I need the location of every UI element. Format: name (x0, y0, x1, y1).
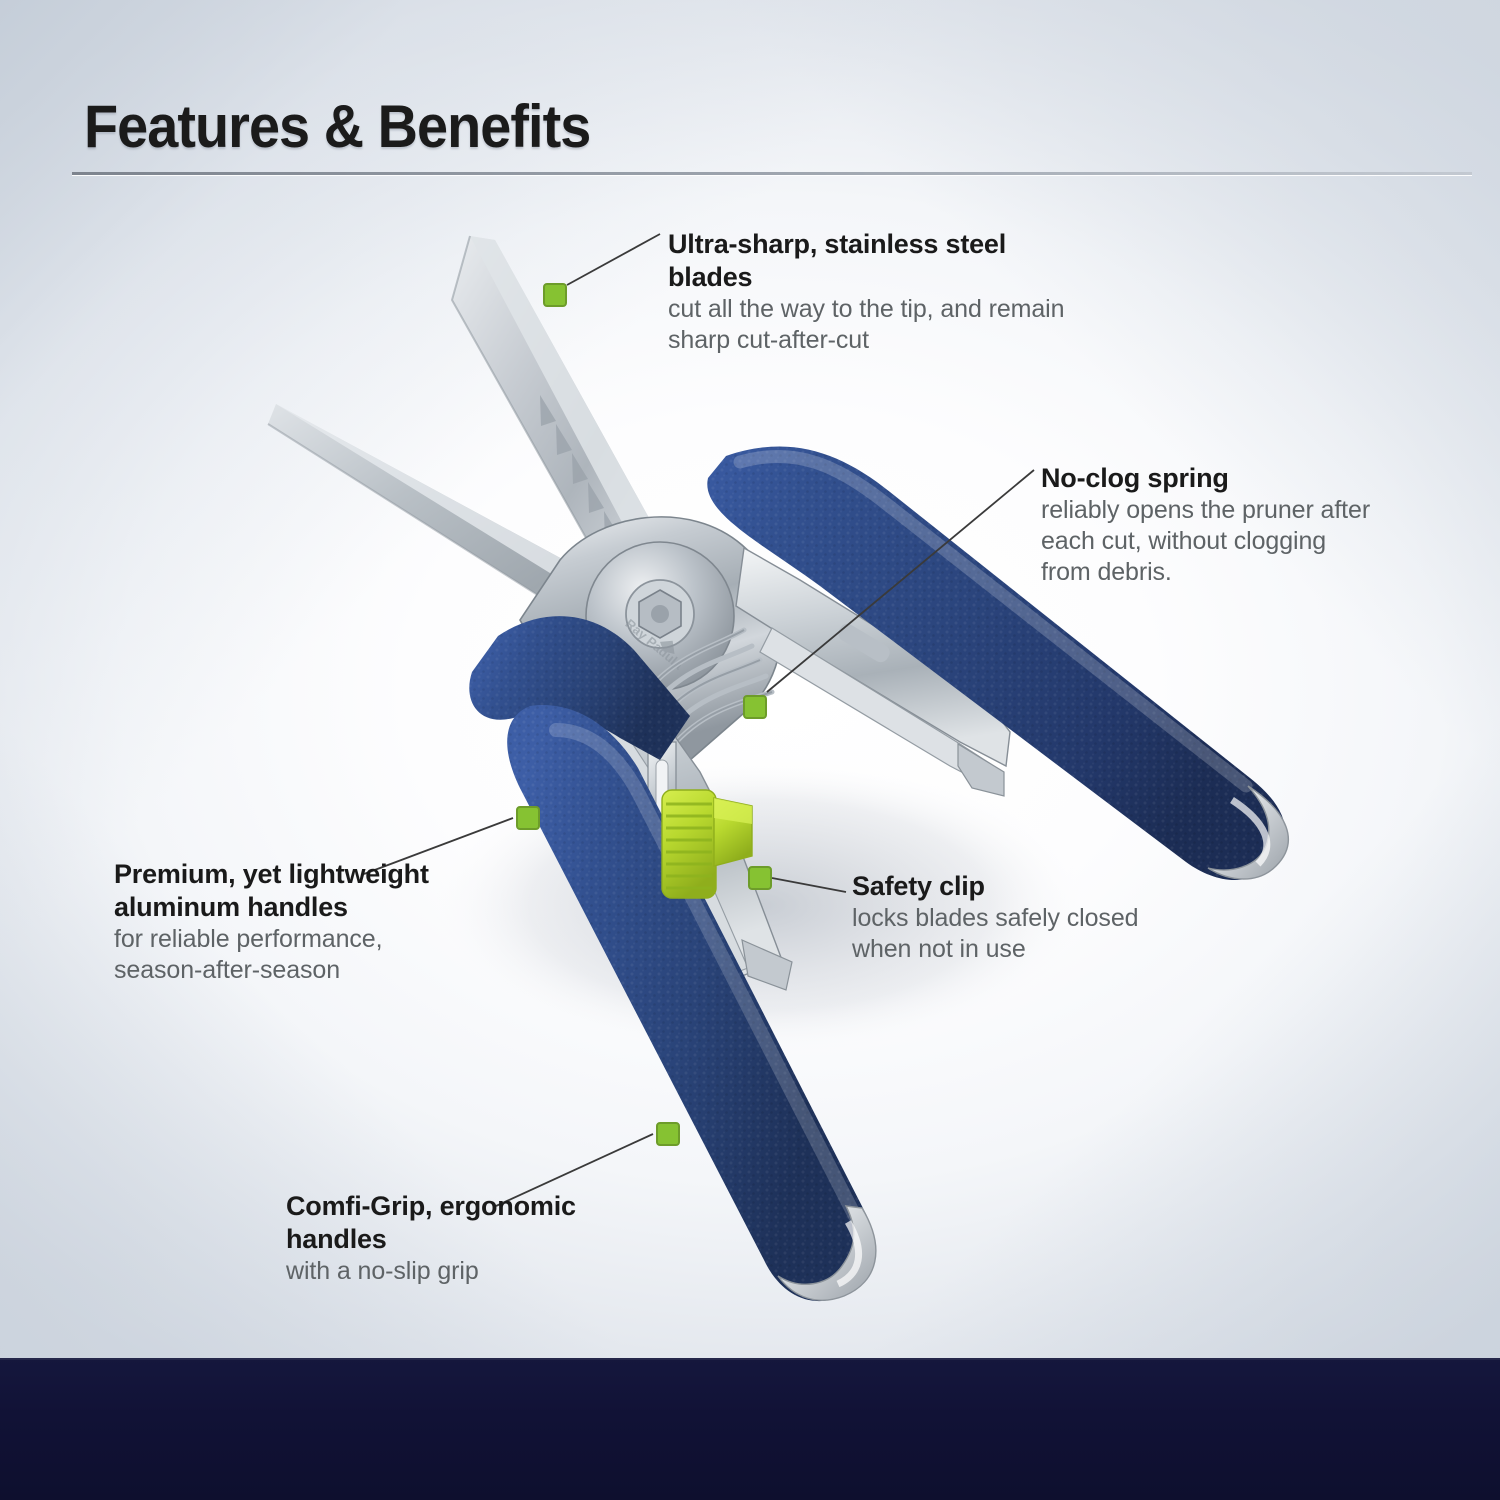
callout-grip-body: with a no-slip grip (286, 1256, 646, 1287)
callout-grip: Comfi-Grip, ergonomic handles with a no-… (286, 1190, 646, 1287)
callout-grip-heading: Comfi-Grip, ergonomic handles (286, 1190, 646, 1256)
callout-marker-spring[interactable] (743, 695, 767, 719)
infographic-page: Features & Benefits (0, 0, 1500, 1500)
callout-marker-safety[interactable] (748, 866, 772, 890)
callout-safety-heading: Safety clip (852, 870, 1182, 903)
callout-aluminum-body: for reliable performance, season-after-s… (114, 924, 474, 986)
callout-blades-body: cut all the way to the tip, and remain s… (668, 294, 1068, 356)
callout-marker-blades[interactable] (543, 283, 567, 307)
callout-spring: No-clog spring reliably opens the pruner… (1041, 462, 1371, 588)
callout-marker-grip[interactable] (656, 1122, 680, 1146)
callout-safety: Safety clip locks blades safely closed w… (852, 870, 1182, 965)
callout-aluminum-heading: Premium, yet lightweight aluminum handle… (114, 858, 474, 924)
callout-blades-heading: Ultra-sharp, stainless steel blades (668, 228, 1068, 294)
callout-spring-heading: No-clog spring (1041, 462, 1371, 495)
callout-aluminum: Premium, yet lightweight aluminum handle… (114, 858, 474, 986)
callout-safety-body: locks blades safely closed when not in u… (852, 903, 1182, 965)
pruner-illustration: Ray Padula (0, 0, 1500, 1500)
footer-band (0, 1358, 1500, 1500)
callout-spring-body: reliably opens the pruner after each cut… (1041, 495, 1371, 588)
callout-blades: Ultra-sharp, stainless steel blades cut … (668, 228, 1068, 356)
callout-marker-aluminum[interactable] (516, 806, 540, 830)
